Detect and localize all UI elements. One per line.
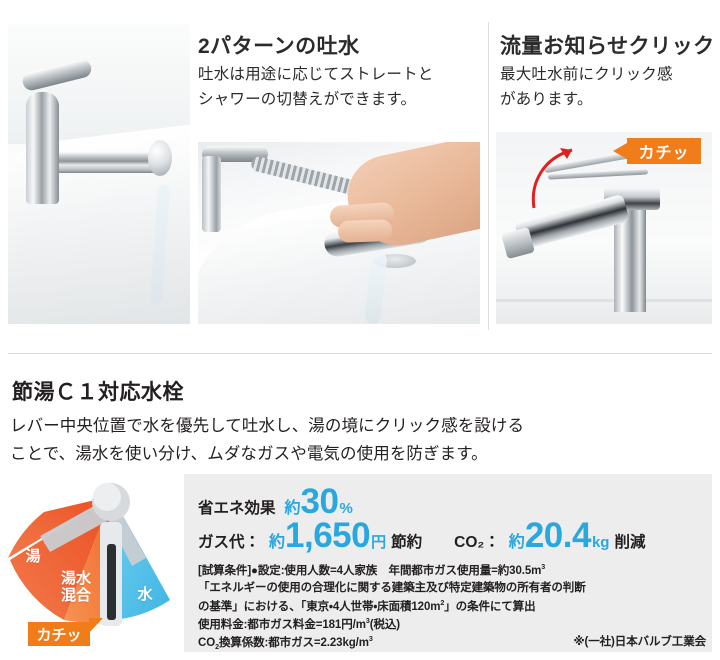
feature-heading-flow-click: 流量お知らせクリック	[500, 30, 715, 60]
fineprint-line-3-text-a: の基準」における、「東京・4人世帯・床面積120m	[198, 601, 440, 613]
fineprint-line-5: CO2換算係数:都市ガス=2.23kg/m3 ※(一社)日本バルブ工業会	[198, 634, 698, 653]
feature-body-line: 最大吐水前にクリック感	[500, 62, 720, 87]
industry-association-credit: ※(一社)日本バルブ工業会	[573, 634, 706, 651]
fineprint-line-3-text-b: 」の条件にて算出	[444, 601, 535, 613]
stat-co2-value: 20.4	[525, 518, 591, 553]
stat-co2-unit: kg	[592, 534, 610, 551]
fineprint-line-2: 「エネルギーの使用の合理化に関する建築主及び特定建築物の所有者の判断	[198, 580, 698, 597]
energy-saving-info-box: 省エネ効果 約 30 % ガス代： 約 1,650 円 節約 CO₂： 約 20…	[184, 474, 712, 652]
click-callout-badge-diagram-label: カチッ	[36, 624, 81, 645]
stat-gas-tail: 節約	[391, 530, 422, 552]
stat-energy-saving-label: 省エネ効果	[198, 496, 276, 518]
fineprint-line-5-text-a: CO	[198, 637, 215, 649]
lever-motion-arrow-icon	[520, 142, 590, 212]
lever-position-fan-diagram: 湯 湯水 混合 水 カチッ	[4, 482, 180, 654]
feature-body-two-pattern: 吐水は用途に応じてストレートと シャワーの切替えができます。	[198, 62, 488, 112]
fineprint-line-1-text: [試算条件]●設定:使用人数=4人家族 年間都市ガス使用量=約30.5m	[198, 565, 541, 577]
fineprint-line-1-sup: 3	[541, 563, 545, 571]
fan-label-mixed-line2: 混合	[56, 587, 96, 604]
feature-body-line: 吐水は用途に応じてストレートと	[198, 62, 488, 87]
feature-body-flow-click: 最大吐水前にクリック感 があります。	[500, 62, 720, 112]
features-top-section: 2パターンの吐水 吐水は用途に応じてストレートと シャワーの切替えができます。 …	[0, 0, 720, 353]
feature-heading-two-pattern: 2パターンの吐水	[198, 30, 360, 60]
section-lead-paragraph: レバー中央位置で水を優先して吐水し、湯の境にクリック感を設ける ことで、湯水を使…	[10, 412, 710, 469]
stat-gas-unit: 円	[371, 531, 386, 552]
faucet-body	[26, 92, 59, 204]
feature-heading-two-pattern-text: 2パターンの吐水	[198, 35, 360, 58]
pullout-shower-head-photo	[198, 142, 480, 324]
stat-energy-saving-approx: 約	[285, 494, 301, 518]
fineprint-line-1: [試算条件]●設定:使用人数=4人家族 年間都市ガス使用量=約30.5m3	[198, 562, 698, 580]
section-lead-line: ことで、湯水を使い分け、ムダなガスや電気の使用を防ぎます。	[10, 440, 710, 468]
fineprint-line-5-sup: 3	[369, 635, 373, 643]
stat-co2-approx: 約	[509, 528, 525, 552]
stat-energy-saving-value: 30	[301, 484, 339, 519]
stat-energy-saving: 省エネ効果 約 30 %	[198, 484, 353, 519]
click-callout-badge-diagram: カチッ	[28, 622, 90, 646]
finger	[338, 219, 393, 243]
stat-gas-approx: 約	[269, 528, 285, 552]
section-title-text: 節湯Ｃ１対応水栓	[12, 381, 184, 404]
fineprint-line-4-text-b: (税込)	[370, 619, 400, 631]
stat-energy-saving-unit: %	[339, 500, 352, 517]
click-callout-badge-top-label: カチッ	[638, 139, 689, 163]
counter-surface	[496, 299, 712, 302]
feature-body-line: があります。	[500, 87, 720, 112]
faucet-body	[202, 156, 221, 232]
feature-heading-flow-click-text: 流量お知らせクリック	[500, 35, 715, 58]
section-lead-line: レバー中央位置で水を優先して吐水し、湯の境にクリック感を設ける	[10, 412, 710, 440]
feature-body-line: シャワーの切替えができます。	[198, 87, 488, 112]
stat-gas-label: ガス代：	[198, 530, 260, 552]
fan-label-cold: 水	[130, 586, 160, 603]
stat-co2-label: CO₂：	[454, 530, 500, 552]
section-title: 節湯Ｃ１対応水栓	[12, 376, 184, 406]
calculation-conditions-fineprint: [試算条件]●設定:使用人数=4人家族 年間都市ガス使用量=約30.5m3 「エ…	[198, 562, 698, 653]
click-callout-badge-top: カチッ	[627, 138, 701, 164]
faucet-straight-flow-photo	[8, 24, 190, 324]
fan-label-hot: 湯	[18, 548, 48, 565]
fineprint-line-2-text: 「エネルギーの使用の合理化に関する建築主及び特定建築物の所有者の判断	[198, 582, 586, 594]
stat-row-gas-and-co2: ガス代： 約 1,650 円 節約 CO₂： 約 20.4 kg 削減	[198, 518, 645, 553]
stat-co2-tail: 削減	[614, 530, 645, 552]
setsuyu-c1-section: 節湯Ｃ１対応水栓 レバー中央位置で水を優先して吐水し、湯の境にクリック感を設ける…	[0, 354, 720, 660]
fineprint-line-4-text-a: 使用料金:都市ガス料金=181円/m	[198, 619, 366, 631]
faucet-head-knob	[148, 140, 172, 176]
fan-label-mixed-line1: 湯水	[56, 570, 96, 587]
fineprint-line-4: 使用料金:都市ガス料金=181円/m3(税込)	[198, 616, 698, 634]
stat-gas-value: 1,650	[285, 518, 370, 553]
fineprint-line-5-text-b: 換算係数:都市ガス=2.23kg/m	[219, 637, 369, 649]
fan-label-mixed: 湯水 混合	[56, 570, 96, 605]
column-divider	[488, 22, 489, 330]
fineprint-line-3: の基準」における、「東京・4人世帯・床面積120m2」の条件にて算出	[198, 598, 698, 616]
